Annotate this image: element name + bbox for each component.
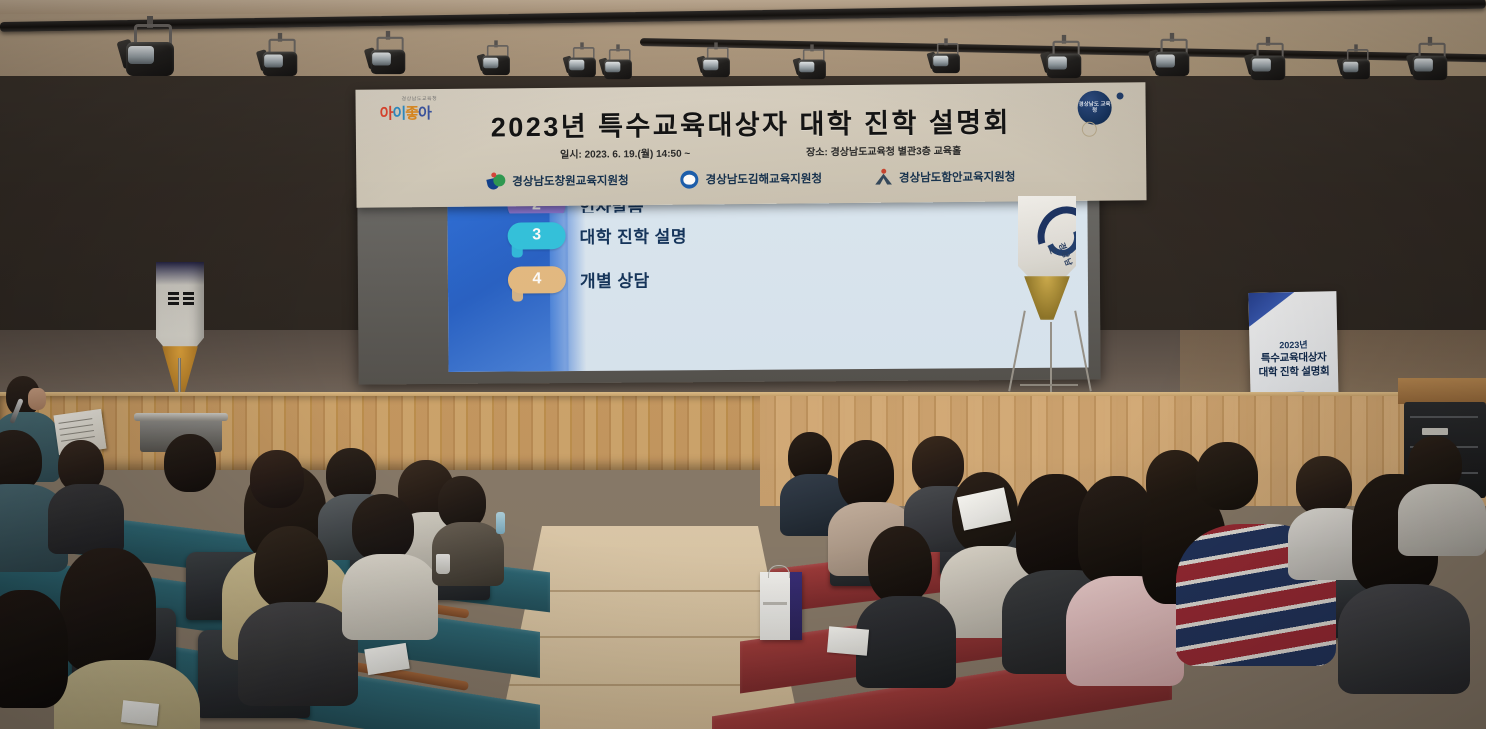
projection-screen: 2 인사말씀 3 대학 진학 설명 4 개별 상담	[447, 199, 1088, 371]
organization-item: 경상남도함안교육지원청	[874, 167, 1016, 185]
paper-cup	[436, 554, 450, 574]
flag-tripod-stand	[1010, 308, 1090, 392]
xbanner-line2: 대학 진학 설명회	[1250, 363, 1338, 380]
water-bottle	[496, 512, 505, 534]
stage-light-icon	[797, 49, 827, 85]
presenter-face	[28, 388, 46, 410]
rear-wall-shelf	[1398, 378, 1486, 404]
changwon-education-office-icon	[487, 172, 506, 189]
gift-bag	[760, 572, 802, 640]
projection-screen-frame: 2 인사말씀 3 대학 진학 설명 4 개별 상담	[357, 193, 1100, 384]
banner-corner-graphic	[1248, 292, 1295, 327]
stage-light-icon	[1153, 39, 1190, 84]
stage-light-icon	[261, 39, 298, 84]
slide-agenda-list: 2 인사말씀 3 대학 진학 설명 4 개별 상담	[507, 199, 1068, 301]
organization-name: 경상남도창원교육지원청	[512, 172, 629, 189]
banner-location: 장소: 경상남도교육청 별관3층 교육홀	[806, 142, 961, 158]
organization-item: 경상남도김해교육지원청	[681, 169, 823, 187]
seal-dot	[1117, 92, 1124, 99]
auditorium-scene: 2 인사말씀 3 대학 진학 설명 4 개별 상담 경상남도교육청 아이좋아	[0, 0, 1486, 729]
banner-organization-list: 경상남도창원교육지원청 경상남도김해교육지원청 경상남도함안교육지원청	[356, 166, 1146, 191]
handout-paper	[121, 700, 159, 726]
stage-light-icon	[369, 37, 406, 82]
agenda-number-badge: 4	[508, 266, 566, 293]
stage-light-icon	[124, 24, 176, 86]
stage-light-icon	[931, 43, 961, 79]
organization-item: 경상남도창원교육지원청	[487, 171, 629, 189]
stage-light-icon	[603, 49, 633, 85]
stage-light-icon	[1411, 43, 1448, 88]
stage-light-icon	[1341, 49, 1371, 85]
stage-light-icon	[701, 47, 731, 83]
stage-light-icon	[1249, 43, 1286, 88]
haman-education-office-icon	[874, 169, 893, 186]
institutional-flag-icon: 경상남도	[1008, 196, 1092, 392]
gimhae-education-office-icon	[681, 170, 700, 187]
agenda-number-badge: 3	[508, 222, 566, 249]
banner-datetime: 일시: 2023. 6. 19.(월) 14:50 ~	[560, 145, 690, 161]
agenda-item: 4 개별 상담	[508, 254, 1068, 302]
stage-light-icon	[567, 47, 597, 83]
center-aisle	[500, 526, 800, 729]
event-banner: 경상남도교육청 아이좋아 경상남도 교육청 2023년 특수교육대상자 대학 진…	[355, 82, 1146, 208]
banner-title: 2023년 특수교육대상자 대학 진학 설명회	[356, 99, 1146, 146]
organization-name: 경상남도함안교육지원청	[899, 168, 1016, 185]
stage-light-icon	[481, 45, 511, 81]
audience-seating-area	[0, 430, 1486, 729]
taegeuk-trigrams	[168, 292, 194, 314]
agenda-item: 3 대학 진학 설명	[507, 210, 1067, 258]
organization-name: 경상남도김해교육지원청	[706, 170, 823, 187]
agenda-label: 대학 진학 설명	[580, 222, 687, 248]
stage-light-icon	[1045, 41, 1082, 86]
agenda-label: 개별 상담	[580, 266, 650, 291]
handout-paper	[827, 626, 869, 655]
